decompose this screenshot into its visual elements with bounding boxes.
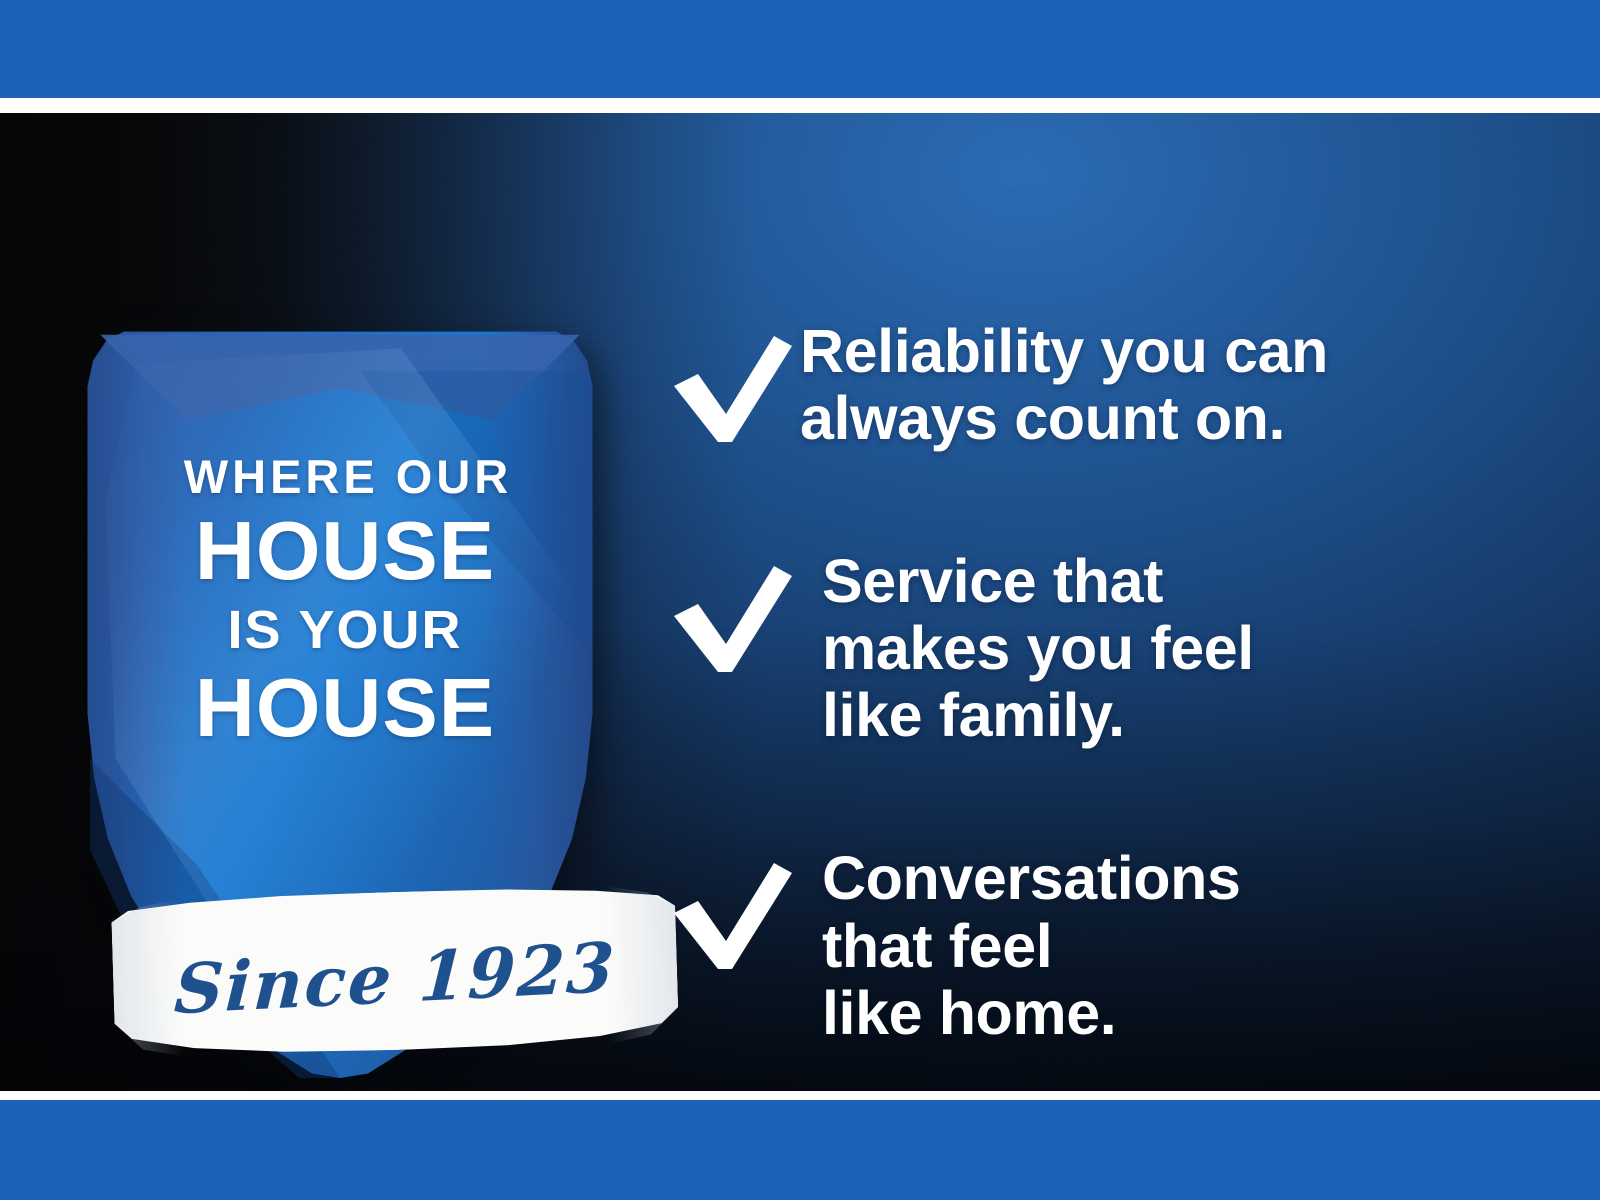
benefit-text-service: Service that makes you feel like family. xyxy=(800,548,1548,749)
lockup-line-house-1: HOUSE xyxy=(115,509,575,592)
checkmark-icon xyxy=(668,334,794,446)
checkmark-icon xyxy=(668,861,794,973)
benefits-list: Reliability you can always count on. Ser… xyxy=(668,318,1548,1047)
lockup-line-is-your: IS YOUR xyxy=(115,603,575,657)
checkmark-icon xyxy=(668,564,794,676)
benefit-item-conversations: Conversations that feel like home. xyxy=(668,845,1548,1046)
poster-stage: WHERE OUR HOUSE IS YOUR HOUSE Since 1923 xyxy=(0,113,1600,1091)
check-wrap-3 xyxy=(668,845,800,973)
benefit-item-reliability: Reliability you can always count on. xyxy=(668,318,1548,452)
lockup-line-house-2: HOUSE xyxy=(115,666,575,749)
promotional-poster: WHERE OUR HOUSE IS YOUR HOUSE Since 1923 xyxy=(0,0,1600,1200)
shield-badge: WHERE OUR HOUSE IS YOUR HOUSE Since 1923 xyxy=(55,298,635,1088)
benefit-text-conversations: Conversations that feel like home. xyxy=(800,845,1548,1046)
benefit-text-reliability: Reliability you can always count on. xyxy=(800,318,1548,452)
check-wrap-2 xyxy=(668,548,800,676)
ribbon-script-text: Since 1923 xyxy=(109,885,681,1072)
check-wrap-1 xyxy=(668,318,800,446)
since-ribbon: Since 1923 xyxy=(111,884,679,1059)
shield-lockup-text: WHERE OUR HOUSE IS YOUR HOUSE xyxy=(115,453,575,749)
lockup-line-where-our: WHERE OUR xyxy=(121,453,575,500)
benefit-item-service: Service that makes you feel like family. xyxy=(668,548,1548,749)
top-brand-bar xyxy=(0,0,1600,98)
bottom-brand-bar xyxy=(0,1100,1600,1200)
